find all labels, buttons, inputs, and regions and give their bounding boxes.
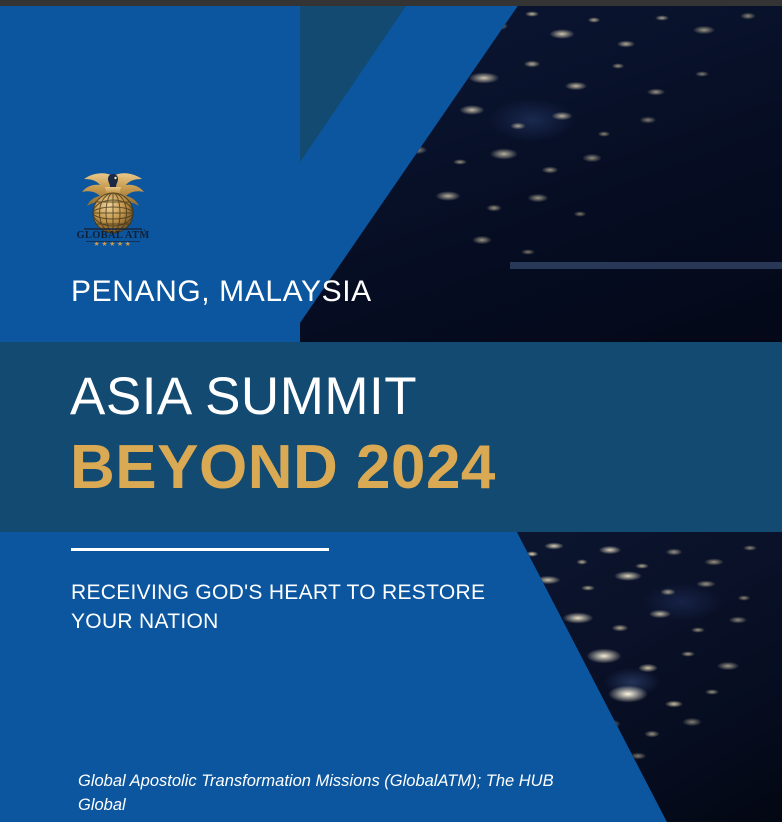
top-chrome-strip bbox=[0, 0, 782, 6]
event-tagline: RECEIVING GOD'S HEART TO RESTORE YOUR NA… bbox=[71, 578, 501, 636]
globe-eagle-logo-icon: GLOBAL ATM ® ★★★★★ bbox=[72, 168, 154, 250]
event-location: PENANG, MALAYSIA bbox=[71, 275, 372, 309]
event-title: ASIA SUMMIT bbox=[70, 370, 417, 423]
satellite-water-band bbox=[510, 262, 782, 269]
event-poster: GLOBAL ATM ® ★★★★★ PENANG, MALAYSIA ASIA… bbox=[0, 0, 782, 822]
event-theme: BEYOND 2024 bbox=[70, 437, 496, 499]
svg-text:®: ® bbox=[143, 228, 146, 233]
divider-rule bbox=[71, 548, 329, 551]
organization-credit: Global Apostolic Transformation Missions… bbox=[78, 769, 558, 817]
